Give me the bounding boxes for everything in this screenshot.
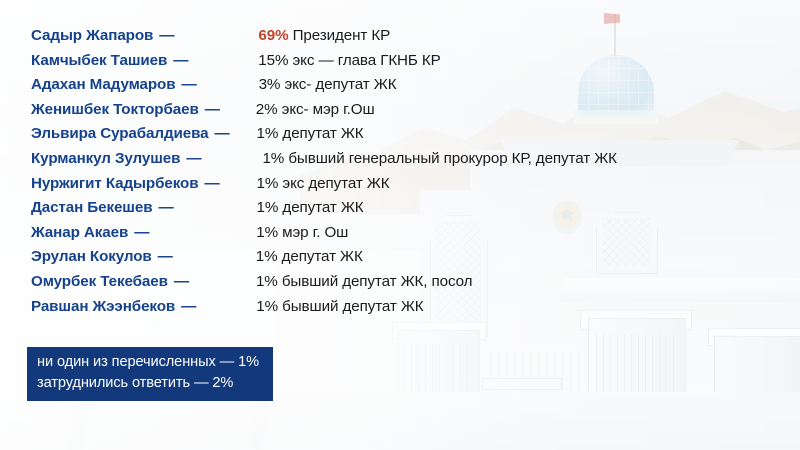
- candidate-name: Камчыбек Ташиев: [0, 49, 167, 74]
- result-value: 1% мэр г. Ош: [256, 221, 348, 246]
- row-separator-dash: —: [152, 245, 173, 270]
- result-row: Адахан Мадумаров—3% экс- депутат ЖК: [0, 73, 760, 98]
- candidate-role: бывший генеральный прокурор КР, депутат …: [284, 150, 617, 167]
- result-row: Омурбек Текебаев—1% бывший депутат ЖК, п…: [0, 270, 760, 295]
- result-value: 1% бывший депутат ЖК, посол: [256, 270, 472, 295]
- row-separator-dash: —: [167, 49, 188, 74]
- percentage-value: 69%: [258, 27, 288, 44]
- row-separator-dash: —: [152, 196, 173, 221]
- percentage-value: 1%: [256, 248, 278, 265]
- result-row: Эрулан Кокулов—1% депутат ЖК: [0, 245, 760, 270]
- result-row: Дастан Бекешев—1% депутат ЖК: [0, 196, 760, 221]
- result-row: Эльвира Сурабалдиева—1% депутат ЖК: [0, 122, 760, 147]
- row-separator-dash: —: [198, 172, 219, 197]
- candidate-name: Курманкул Зулушев: [0, 147, 180, 172]
- result-value: 1% депутат ЖК: [257, 122, 364, 147]
- row-separator-dash: —: [180, 147, 201, 172]
- candidate-name: Нуржигит Кадырбеков: [0, 172, 198, 197]
- result-value: 1% бывший депутат ЖК: [256, 295, 423, 320]
- result-row: Женишбек Токторбаев—2% экс- мэр г.Ош: [0, 98, 760, 123]
- other-answers-box: ни один из перечисленных — 1%затруднилис…: [27, 347, 273, 401]
- result-value: 1% экс депутат ЖК: [257, 172, 390, 197]
- candidate-name: Садыр Жапаров: [0, 24, 153, 49]
- percentage-value: 1%: [256, 298, 278, 315]
- percentage-value: 1%: [256, 273, 278, 290]
- candidate-role: экс депутат ЖК: [278, 175, 389, 192]
- candidate-role: экс- депутат ЖК: [280, 76, 396, 93]
- row-separator-dash: —: [199, 98, 220, 123]
- row-separator-dash: —: [168, 270, 189, 295]
- percentage-value: 1%: [256, 224, 278, 241]
- row-separator-dash: —: [208, 122, 229, 147]
- row-separator-dash: —: [128, 221, 149, 246]
- result-value: 3% экс- депутат ЖК: [259, 73, 397, 98]
- candidate-name: Равшан Жээнбеков: [0, 295, 175, 320]
- candidate-role: Президент КР: [288, 27, 390, 44]
- row-separator-dash: —: [153, 24, 174, 49]
- candidate-name: Женишбек Токторбаев: [0, 98, 199, 123]
- result-value: 2% экс- мэр г.Ош: [256, 98, 375, 123]
- slide-root: Садыр Жапаров—69% Президент КРКамчыбек Т…: [0, 0, 800, 450]
- candidate-role: депутат ЖК: [278, 125, 363, 142]
- result-row: Садыр Жапаров—69% Президент КР: [0, 24, 760, 49]
- candidate-name: Эрулан Кокулов: [0, 245, 152, 270]
- other-answer-line: затруднились ответить — 2%: [37, 373, 259, 394]
- result-row: Равшан Жээнбеков—1% бывший депутат ЖК: [0, 295, 760, 320]
- result-row: Камчыбек Ташиев—15% экс — глава ГКНБ КР: [0, 49, 760, 74]
- percentage-value: 1%: [257, 175, 279, 192]
- result-value: 1% депутат ЖК: [256, 245, 363, 270]
- row-separator-dash: —: [175, 295, 196, 320]
- result-value: 15% экс — глава ГКНБ КР: [258, 49, 440, 74]
- candidate-name: Дастан Бекешев: [0, 196, 152, 221]
- result-value: 1% депутат ЖК: [257, 196, 364, 221]
- candidate-name: Омурбек Текебаев: [0, 270, 168, 295]
- percentage-value: 1%: [257, 125, 279, 142]
- result-row: Курманкул Зулушев—1% бывший генеральный …: [0, 147, 760, 172]
- candidate-role: бывший депутат ЖК: [278, 298, 424, 315]
- candidate-name: Эльвира Сурабалдиева: [0, 122, 208, 147]
- candidate-role: бывший депутат ЖК, посол: [278, 273, 473, 290]
- result-value: 69% Президент КР: [258, 24, 390, 49]
- percentage-value: 1%: [262, 150, 284, 167]
- candidate-role: мэр г. Ош: [278, 224, 348, 241]
- percentage-value: 2%: [256, 101, 278, 118]
- candidate-name: Адахан Мадумаров: [0, 73, 175, 98]
- candidate-role: экс — глава ГКНБ КР: [288, 52, 440, 69]
- result-value: 1% бывший генеральный прокурор КР, депут…: [262, 147, 616, 172]
- candidate-role: экс- мэр г.Ош: [278, 101, 375, 118]
- candidate-results-list: Садыр Жапаров—69% Президент КРКамчыбек Т…: [0, 24, 760, 319]
- percentage-value: 15%: [258, 52, 288, 69]
- candidate-role: депутат ЖК: [278, 248, 363, 265]
- candidate-role: депутат ЖК: [278, 199, 363, 216]
- other-answer-line: ни один из перечисленных — 1%: [37, 352, 259, 373]
- percentage-value: 1%: [257, 199, 279, 216]
- result-row: Жанар Акаев—1% мэр г. Ош: [0, 221, 760, 246]
- result-row: Нуржигит Кадырбеков—1% экс депутат ЖК: [0, 172, 760, 197]
- candidate-name: Жанар Акаев: [0, 221, 128, 246]
- percentage-value: 3%: [259, 76, 281, 93]
- row-separator-dash: —: [175, 73, 196, 98]
